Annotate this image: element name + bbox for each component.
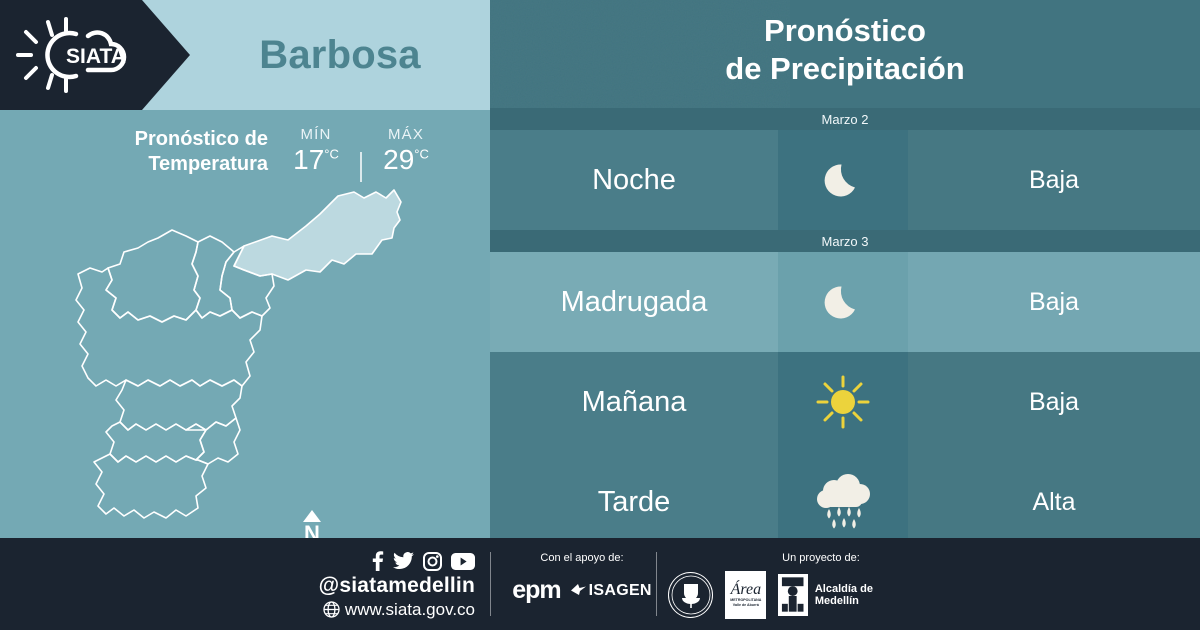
alcaldia-text: Alcaldía de Medellín [815,583,918,607]
isagen-logo: ISAGEN [571,582,652,600]
twitter-icon[interactable] [393,552,414,570]
forecast-period-cell: Noche [490,130,778,230]
map-region-barbosa [234,190,401,280]
footer-social-block: @siatamedellin www.siata.gov.co [319,551,475,620]
map-region-caldas [94,454,208,518]
infographic-root: SIATA Barbosa Pronóstico de Temperatura … [0,0,1200,630]
support-label: Con el apoyo de: [508,552,656,564]
website-line[interactable]: www.siata.gov.co [319,599,475,620]
valley-map: N [20,180,470,530]
youtube-icon[interactable] [451,553,475,570]
forecast-rows: Marzo 2 Noche Baja Marzo 3 Madrugada [490,108,1200,552]
forecast-row-noche[interactable]: Noche Baja [490,130,1200,230]
epm-logo: epm [512,576,560,605]
probability-label: Baja [1029,388,1079,417]
instagram-icon[interactable] [423,552,442,571]
forecast-row-manana[interactable]: Mañana [490,352,1200,452]
sun-cloud-icon: SIATA [14,16,134,94]
globe-icon [323,601,340,618]
alcaldia-mark-icon [778,574,807,616]
temperature-title: Pronóstico de Temperatura [88,127,268,177]
temperature-max: MÁX 29°C [367,126,445,176]
area-script-text: Área [731,582,762,598]
probability-label: Alta [1032,488,1075,517]
universidad-seal-icon [668,572,713,618]
support-block: Con el apoyo de: epm ISAGEN [508,552,656,605]
website-text: www.siata.gov.co [345,599,475,620]
facebook-icon[interactable] [370,551,384,571]
sun-icon [814,373,872,431]
social-handle[interactable]: @siatamedellin [319,573,475,599]
temperature-min: MÍN 17°C [277,126,355,176]
footer-divider-2 [656,552,657,616]
map-region-bello [106,230,200,322]
map-svg [20,180,470,530]
moon-icon [817,154,869,206]
footer-divider-1 [490,552,491,616]
alcaldia-logo: Alcaldía de Medellín [778,574,918,616]
forecast-probability-cell: Baja [908,252,1200,352]
social-icons [319,551,475,571]
forecast-title: Pronóstico de Precipitación [490,12,1200,88]
date-header: Marzo 2 [490,108,1200,130]
period-label: Madrugada [561,286,708,319]
forecast-period-cell: Tarde [490,452,778,552]
forecast-probability-cell: Alta [908,452,1200,552]
logo-wedge: SIATA [0,0,190,110]
logo-text: SIATA [66,45,126,68]
area-metropolitana-logo: Área METROPOLITANA Valle de Aburrá [725,571,766,619]
min-unit: °C [324,147,339,162]
temperature-title-line1: Pronóstico de [88,127,268,152]
forecast-icon-cell [778,130,908,230]
max-value-group: 29°C [367,144,445,176]
footer: @siatamedellin www.siata.gov.co Con el a… [0,538,1200,630]
forecast-period-cell: Mañana [490,352,778,452]
period-label: Mañana [582,386,687,419]
probability-label: Baja [1029,166,1079,195]
forecast-title-line1: Pronóstico [490,12,1200,50]
max-value: 29 [383,144,414,175]
period-label: Noche [592,164,676,197]
moon-icon [817,276,869,328]
forecast-probability-cell: Baja [908,352,1200,452]
max-unit: °C [414,147,429,162]
forecast-probability-cell: Baja [908,130,1200,230]
project-logos: Área METROPOLITANA Valle de Aburrá [668,571,918,619]
temperature-block: Pronóstico de Temperatura MÍN 17°C MÁX 2… [0,110,490,190]
map-region-west [76,268,262,386]
forecast-row-madrugada[interactable]: Madrugada Baja [490,252,1200,352]
map-region-envigado [186,418,240,464]
left-panel: SIATA Barbosa Pronóstico de Temperatura … [0,0,490,538]
right-panel: Pronóstico de Precipitación Marzo 2 Noch… [490,0,1200,538]
project-block: Un proyecto de: Área METROPOLITANA Valle… [668,552,918,619]
temperature-divider [360,152,362,182]
forecast-row-tarde[interactable]: Tarde [490,452,1200,552]
project-label: Un proyecto de: [724,552,918,564]
area-sub-line2: Valle de Aburrá [733,603,759,608]
page-title: Barbosa [190,0,490,110]
min-label: MÍN [277,126,355,143]
min-value: 17 [293,144,324,175]
map-region-itagui [106,422,206,462]
probability-label: Baja [1029,288,1079,317]
isagen-mark-icon [571,584,586,597]
min-value-group: 17°C [277,144,355,176]
forecast-icon-cell [778,452,908,552]
rain-cloud-icon [812,473,874,531]
date-header: Marzo 3 [490,230,1200,252]
support-logos: epm ISAGEN [508,576,656,605]
temperature-title-line2: Temperatura [88,152,268,177]
forecast-icon-cell [778,352,908,452]
forecast-icon-cell [778,252,908,352]
forecast-title-line2: de Precipitación [490,50,1200,88]
max-label: MÁX [367,126,445,143]
forecast-period-cell: Madrugada [490,252,778,352]
left-header: SIATA Barbosa [0,0,490,110]
map-region-medellin [116,380,242,430]
period-label: Tarde [598,486,671,519]
